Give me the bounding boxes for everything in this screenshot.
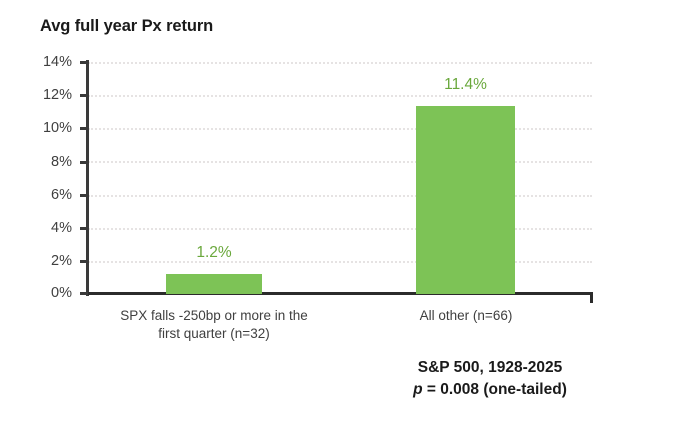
gridline-14 [88,62,592,64]
gridline-10 [88,128,592,130]
y-tick-8 [80,161,88,164]
y-tick-label-0: 0% [26,286,72,301]
category-label-all-other: All other (n=66) [340,307,592,325]
bar-all-other[interactable] [416,106,515,294]
bar-value-label-spx-falls-250bp: 1.2% [166,245,262,261]
gridline-8 [88,161,592,163]
y-tick-label-14: 14% [26,55,72,70]
gridline-4 [88,228,592,230]
x-axis-end-tick [590,292,593,303]
y-tick-4 [80,227,88,230]
x-axis-line [86,292,593,295]
y-tick-14 [80,61,88,64]
category-label-line-1: SPX falls -250bp or more in the [88,307,340,325]
y-tick-label-2: 2% [26,254,72,269]
footnote-line-pvalue: p = 0.008 (one-tailed) [345,379,635,401]
y-axis-tick-labels: 14% 12% 10% 8% 6% 4% 2% 0% [26,0,72,428]
category-label-line-2: first quarter (n=32) [88,325,340,343]
chart-footnote: S&P 500, 1928-2025 p = 0.008 (one-tailed… [345,357,635,402]
plot-area [88,62,592,294]
y-tick-10 [80,127,88,130]
bar-spx-falls-250bp[interactable] [166,274,262,294]
y-tick-label-12: 12% [26,88,72,103]
y-tick-12 [80,94,88,97]
bar-chart: Avg full year Px return 14% 12% 10% 8% 6… [0,0,691,428]
y-tick-0 [80,292,88,295]
y-tick-label-4: 4% [26,221,72,236]
y-tick-label-8: 8% [26,155,72,170]
footnote-p-symbol: p [413,381,422,398]
gridline-6 [88,195,592,197]
footnote-line-source: S&P 500, 1928-2025 [345,357,635,379]
bar-value-label-all-other: 11.4% [416,77,515,93]
gridline-2 [88,261,592,263]
y-tick-6 [80,194,88,197]
gridline-12 [88,95,592,97]
y-tick-label-6: 6% [26,188,72,203]
category-label-line-1: All other (n=66) [340,307,592,325]
category-label-spx-falls-250bp: SPX falls -250bp or more in the first qu… [88,307,340,343]
footnote-p-value: = 0.008 (one-tailed) [423,381,567,398]
y-tick-label-10: 10% [26,121,72,136]
y-tick-2 [80,260,88,263]
